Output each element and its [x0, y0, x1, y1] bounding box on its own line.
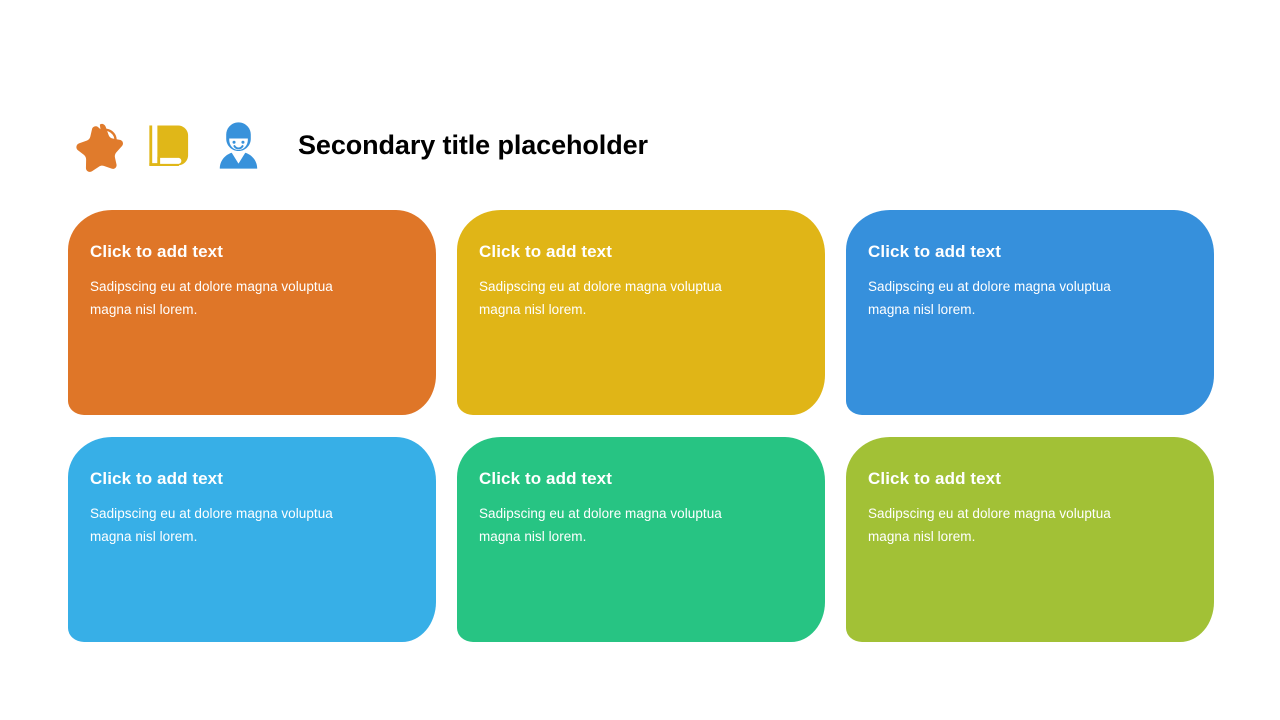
card-body-text[interactable]: Sadipscing eu at dolore magna voluptua m… [479, 275, 767, 321]
content-card-3[interactable]: Click to add text Sadipscing eu at dolor… [846, 210, 1214, 415]
card-title[interactable]: Click to add text [479, 243, 825, 262]
card-title[interactable]: Click to add text [479, 470, 825, 489]
content-card-6[interactable]: Click to add text Sadipscing eu at dolor… [846, 437, 1214, 642]
slide-canvas: Secondary title placeholder Click to add… [0, 0, 1280, 720]
card-body-text[interactable]: Sadipscing eu at dolore magna voluptua m… [479, 502, 767, 548]
card-body-text[interactable]: Sadipscing eu at dolore magna voluptua m… [90, 275, 378, 321]
content-card-1[interactable]: Click to add text Sadipscing eu at dolor… [68, 210, 436, 415]
card-body-text[interactable]: Sadipscing eu at dolore magna voluptua m… [90, 502, 378, 548]
card-body-text[interactable]: Sadipscing eu at dolore magna voluptua m… [868, 502, 1156, 548]
student-icon [210, 117, 267, 174]
card-title[interactable]: Click to add text [90, 243, 436, 262]
content-card-2[interactable]: Click to add text Sadipscing eu at dolor… [457, 210, 825, 415]
content-card-5[interactable]: Click to add text Sadipscing eu at dolor… [457, 437, 825, 642]
slide-header: Secondary title placeholder [70, 112, 648, 178]
star-icon [70, 117, 127, 174]
card-title[interactable]: Click to add text [868, 470, 1214, 489]
page-title: Secondary title placeholder [298, 132, 648, 159]
card-body-text[interactable]: Sadipscing eu at dolore magna voluptua m… [868, 275, 1156, 321]
card-grid: Click to add text Sadipscing eu at dolor… [68, 210, 1214, 642]
card-title[interactable]: Click to add text [90, 470, 436, 489]
book-icon [140, 117, 197, 174]
header-icon-group [70, 117, 267, 174]
card-title[interactable]: Click to add text [868, 243, 1214, 262]
content-card-4[interactable]: Click to add text Sadipscing eu at dolor… [68, 437, 436, 642]
